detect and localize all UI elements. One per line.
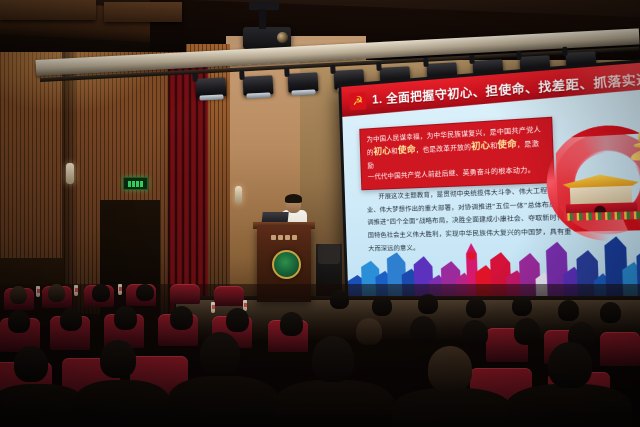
- presentation-screen: ☭ 1. 全面把握守初心、担使命、找差距、抓落实这个总要求 为中国人民谋幸福，为…: [338, 56, 640, 309]
- audience-head: [466, 298, 486, 318]
- ceiling-beam: [104, 2, 182, 22]
- audience-head: [136, 284, 154, 301]
- audience-head: [92, 284, 110, 302]
- water-bottle: [118, 284, 122, 295]
- exit-sign: [123, 177, 148, 190]
- audience-head: [418, 294, 438, 314]
- audience-head: [100, 340, 136, 378]
- tiananmen-graphic: [545, 122, 640, 242]
- audience-head: [14, 346, 48, 382]
- quote-keyword: 使命: [497, 140, 517, 152]
- wall-sconce-light: [66, 163, 74, 184]
- audience-head: [114, 306, 137, 330]
- audience-head: [514, 318, 540, 345]
- audience-head: [226, 308, 249, 332]
- audience-head: [410, 316, 436, 343]
- water-bottle: [211, 302, 215, 313]
- audience-shoulders: [168, 376, 278, 427]
- theater-seat: [170, 284, 200, 304]
- audience-head: [10, 286, 27, 304]
- auditorium-scene: ☭ 1. 全面把握守初心、担使命、找差距、抓落实这个总要求 为中国人民谋幸福，为…: [0, 0, 640, 427]
- quote-mid: ，也是改革开放的: [416, 143, 472, 154]
- audience-head: [48, 284, 65, 302]
- stage-light: [243, 75, 274, 96]
- audience-head: [600, 302, 621, 323]
- audience-area: [0, 284, 640, 427]
- water-bottle: [74, 285, 78, 296]
- audience-head: [200, 332, 240, 376]
- theater-seat: [600, 332, 640, 366]
- audience-shoulders: [274, 380, 394, 427]
- slide-quote-box: 为中国人民谋幸福，为中华民族谋复兴，是中国共产党人 的初心和使命，也是改革开放的…: [359, 117, 554, 190]
- audience-shoulders: [74, 380, 170, 427]
- audience-head: [372, 296, 392, 316]
- water-bottle: [36, 286, 40, 297]
- gate-body: [570, 186, 632, 205]
- audience-head: [356, 318, 382, 345]
- projector-lens-icon: [277, 32, 288, 43]
- ceiling-projector: [243, 27, 291, 49]
- hammer-and-sickle-glyph: ☭: [352, 94, 363, 107]
- audience-shoulders: [392, 388, 512, 427]
- audience-head: [60, 308, 82, 331]
- presenter-hair: [285, 194, 302, 203]
- projector-mount-pole: [259, 9, 266, 29]
- wall-sconce-light: [235, 186, 242, 204]
- audience-head: [280, 312, 303, 336]
- audience-head: [330, 290, 349, 309]
- audience-head: [170, 306, 193, 330]
- audience-head: [8, 310, 30, 333]
- quote-keyword: 使命: [398, 145, 416, 156]
- lectern-emblem-icon: [272, 250, 301, 279]
- slide-surface: ☭ 1. 全面把握守初心、担使命、找差距、抓落实这个总要求 为中国人民谋幸福，为…: [341, 60, 640, 306]
- audience-head: [512, 296, 532, 316]
- audience-head: [548, 342, 592, 388]
- tiananmen-gate-icon: [562, 173, 640, 220]
- quote-keyword: 初心: [471, 141, 490, 153]
- quote-keyword: 初心: [373, 146, 391, 157]
- audience-head: [558, 300, 579, 321]
- hammer-and-sickle-icon: ☭: [349, 92, 366, 110]
- audience-shoulders: [506, 384, 632, 427]
- lectern-nameplate: [262, 234, 306, 240]
- stage-light: [288, 72, 319, 93]
- audience-head: [462, 320, 488, 347]
- stage-light: [196, 77, 227, 98]
- audience-head: [312, 336, 354, 382]
- ceiling-beam: [0, 0, 96, 20]
- theater-seat: [214, 286, 244, 306]
- audience-head: [428, 346, 472, 392]
